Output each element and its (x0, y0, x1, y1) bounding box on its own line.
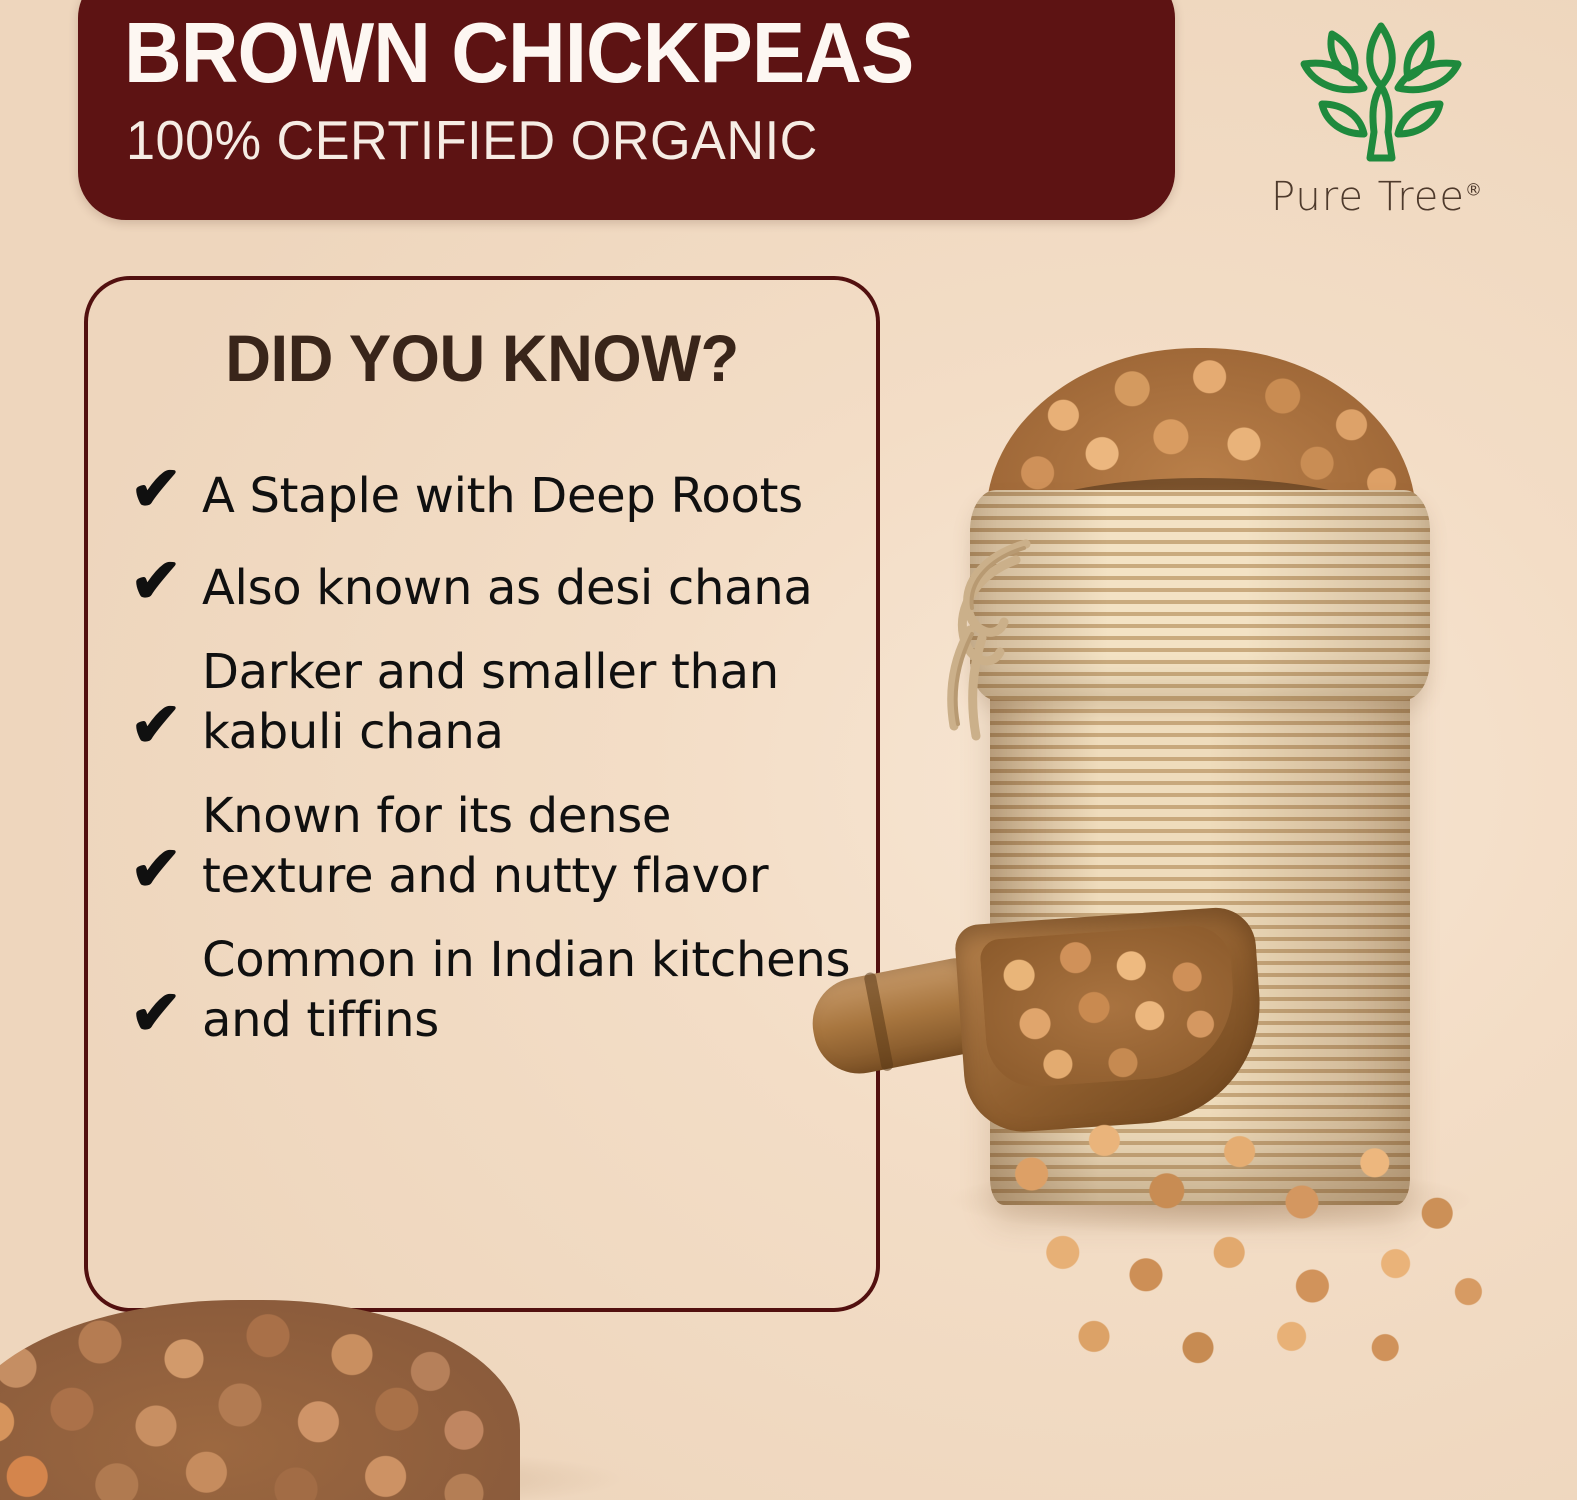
page-title: BROWN CHICKPEAS (124, 8, 913, 100)
list-item-label: Darker and smaller than kabuli chana (202, 642, 852, 762)
list-item: ✔ Known for its dense texture and nutty … (88, 786, 876, 906)
list-item-label: Common in Indian kitchens and tiffins (202, 930, 852, 1050)
list-item: ✔ Also known as desi chana (88, 550, 876, 618)
spilled-chickpeas (990, 1090, 1510, 1370)
list-item-label: Also known as desi chana (202, 558, 852, 618)
did-you-know-card: DID YOU KNOW? ✔ A Staple with Deep Roots… (84, 276, 880, 1312)
product-photo (800, 330, 1577, 1400)
tree-leaf-logo-icon (1276, 8, 1486, 173)
registered-trademark-icon: ® (1465, 181, 1483, 201)
list-item-label: A Staple with Deep Roots (202, 466, 852, 526)
header-banner: BROWN CHICKPEAS 100% CERTIFIED ORGANIC (78, 0, 1175, 220)
list-item: ✔ A Staple with Deep Roots (88, 458, 876, 526)
list-item: ✔ Common in Indian kitchens and tiffins (88, 930, 876, 1050)
check-icon: ✔ (110, 982, 202, 1050)
list-item: ✔ Darker and smaller than kabuli chana (88, 642, 876, 762)
page-subtitle: 100% CERTIFIED ORGANIC (126, 110, 818, 170)
fact-list: ✔ A Staple with Deep Roots ✔ Also known … (88, 458, 876, 1074)
brand-wordmark: Pure Tree® (1262, 174, 1492, 220)
brand-logo: Pure Tree® (1258, 8, 1508, 228)
list-item-label: Known for its dense texture and nutty fl… (202, 786, 852, 906)
check-icon: ✔ (110, 694, 202, 762)
check-icon: ✔ (110, 838, 202, 906)
chickpea-pile (0, 1300, 520, 1500)
card-heading: DID YOU KNOW? (104, 320, 860, 396)
infographic-page: BROWN CHICKPEAS 100% CERTIFIED ORGANIC P… (0, 0, 1577, 1500)
check-icon: ✔ (110, 458, 202, 526)
brand-name: Pure Tree (1271, 174, 1465, 220)
check-icon: ✔ (110, 550, 202, 618)
jute-tie-string (920, 530, 1040, 760)
